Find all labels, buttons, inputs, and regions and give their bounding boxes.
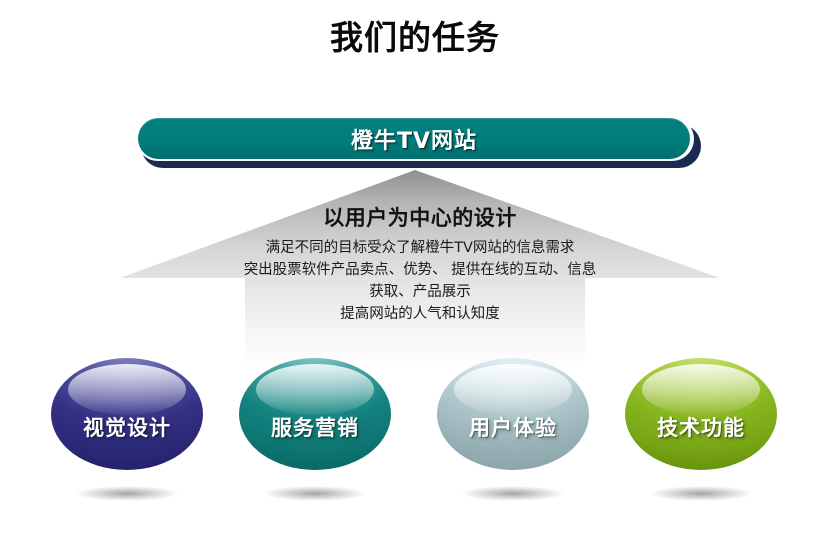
orb-shape[interactable]: 用户体验 bbox=[437, 358, 589, 470]
orb-item-service-marketing[interactable]: 服务营销 bbox=[236, 358, 396, 508]
arrow-body-line: 获取、产品展示 bbox=[110, 280, 730, 301]
orb-shape[interactable]: 技术功能 bbox=[625, 358, 777, 470]
orb-ground-shadow bbox=[76, 486, 178, 501]
arrow-body-line: 突出股票软件产品卖点、优势、 提供在线的互动、信息 bbox=[110, 258, 730, 279]
banner-label: 橙牛TV网站 bbox=[351, 123, 477, 155]
orb-ground-shadow bbox=[650, 486, 752, 501]
orb-shape[interactable]: 服务营销 bbox=[239, 358, 391, 470]
orb-label: 视觉设计 bbox=[51, 358, 203, 470]
orb-item-user-experience[interactable]: 用户体验 bbox=[434, 358, 594, 508]
orb-label: 技术功能 bbox=[625, 358, 777, 470]
orb-ground-shadow bbox=[264, 486, 366, 501]
arrow-body-line: 满足不同的目标受众了解橙牛TV网站的信息需求 bbox=[110, 236, 730, 257]
orb-item-technical-function[interactable]: 技术功能 bbox=[622, 358, 782, 508]
banner[interactable]: 橙牛TV网站 bbox=[135, 116, 701, 172]
slide-canvas: 我们的任务 橙牛TV网站 以用户为中心的设计 满足 bbox=[0, 0, 830, 546]
page-title: 我们的任务 bbox=[0, 16, 830, 60]
orb-label: 用户体验 bbox=[437, 358, 589, 470]
orb-label: 服务营销 bbox=[239, 358, 391, 470]
arrow-heading: 以用户为中心的设计 bbox=[110, 202, 730, 232]
banner-body[interactable]: 橙牛TV网站 bbox=[138, 118, 690, 159]
orb-shape[interactable]: 视觉设计 bbox=[51, 358, 203, 470]
orb-ground-shadow bbox=[462, 486, 564, 501]
up-arrow-shape: 以用户为中心的设计 满足不同的目标受众了解橙牛TV网站的信息需求 突出股票软件产… bbox=[110, 168, 730, 368]
orb-item-visual-design[interactable]: 视觉设计 bbox=[48, 358, 208, 508]
arrow-body-line: 提高网站的人气和认知度 bbox=[110, 302, 730, 323]
